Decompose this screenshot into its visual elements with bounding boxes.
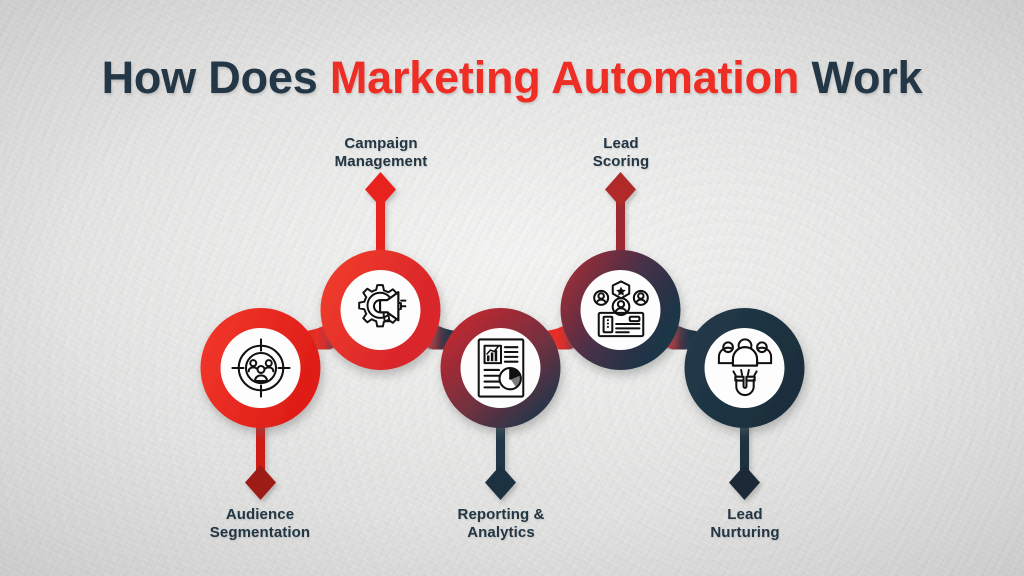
people-magnet-icon xyxy=(709,332,781,404)
lead-scoring-icon xyxy=(585,274,657,346)
target-people-icon xyxy=(225,332,297,404)
label-line-1: Lead xyxy=(521,135,721,153)
label-reporting-analytics: Reporting & Analytics xyxy=(401,506,601,543)
title-highlight: Marketing Automation xyxy=(330,52,799,103)
label-audience-segmentation: Audience Segmentation xyxy=(160,506,360,543)
infographic-canvas: How Does Marketing Automation Work xyxy=(0,0,1024,576)
label-line-2: Analytics xyxy=(401,524,601,542)
label-line-2: Scoring xyxy=(521,153,721,171)
label-campaign-management: Campaign Management xyxy=(281,135,481,172)
title-part-1: How Does xyxy=(102,52,330,103)
label-line-2: Segmentation xyxy=(160,524,360,542)
label-line-1: Campaign xyxy=(281,135,481,153)
report-document-icon xyxy=(465,332,537,404)
label-line-1: Lead xyxy=(645,506,845,524)
label-line-2: Nurturing xyxy=(645,524,845,542)
page-title: How Does Marketing Automation Work xyxy=(0,52,1024,104)
title-part-2: Work xyxy=(799,52,922,103)
gear-megaphone-icon xyxy=(345,274,417,346)
label-line-1: Reporting & xyxy=(401,506,601,524)
label-lead-scoring: Lead Scoring xyxy=(521,135,721,172)
label-line-1: Audience xyxy=(160,506,360,524)
label-line-2: Management xyxy=(281,153,481,171)
label-lead-nurturing: Lead Nurturing xyxy=(645,506,845,543)
